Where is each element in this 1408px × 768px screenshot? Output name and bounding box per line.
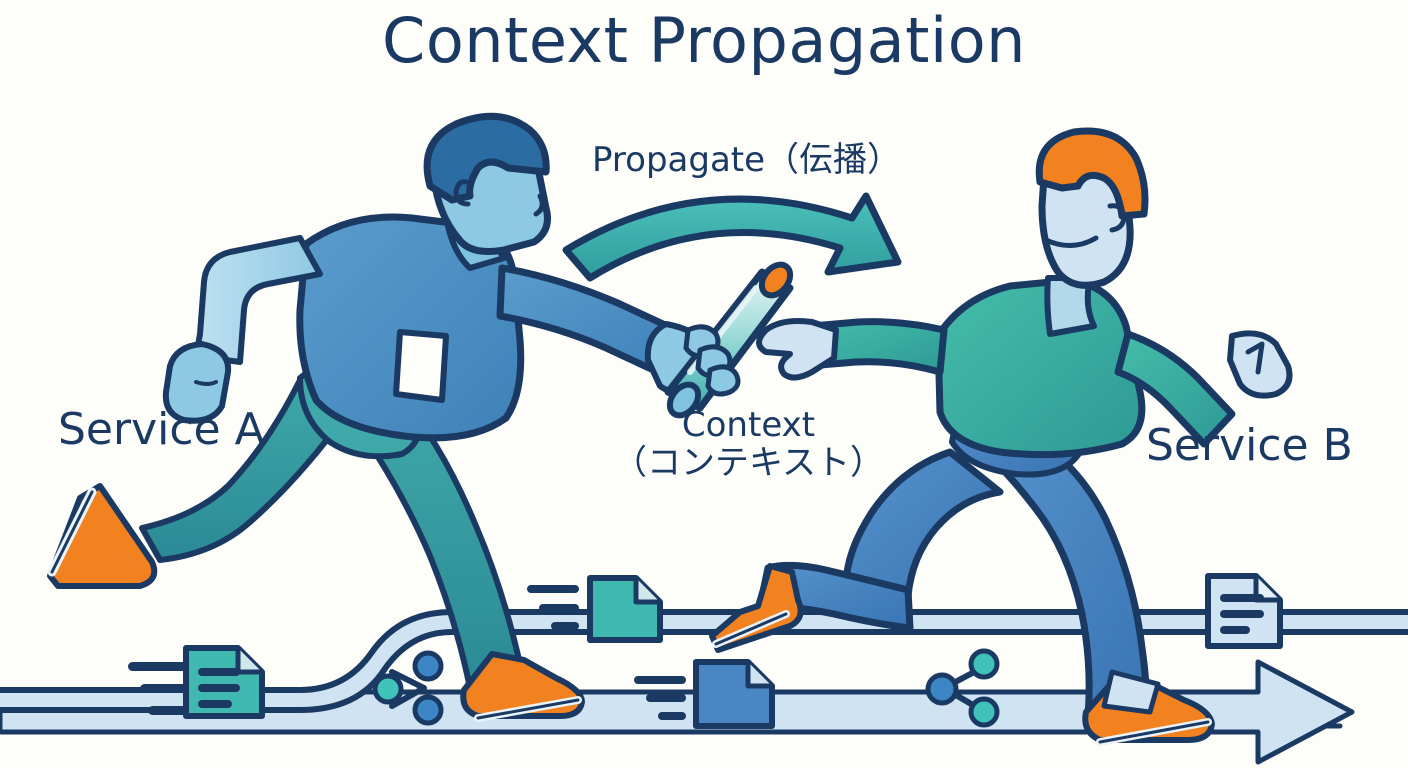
context-label-en: Context (682, 405, 815, 445)
page-title: Context Propagation (0, 4, 1408, 77)
runner-b-shirt (938, 280, 1142, 455)
illustration-canvas: Context Propagation Propagate（伝播） Servic… (0, 0, 1408, 768)
doc-icon-light-right (1208, 576, 1280, 646)
propagate-arrow (566, 196, 898, 278)
doc-icon-teal-left (186, 648, 262, 716)
runner-a-bib (396, 332, 446, 400)
context-label-ja: （コンテキスト） (613, 444, 884, 482)
context-propagation-illustration (0, 0, 1408, 768)
service-b-label: Service B (1146, 420, 1353, 471)
service-a-label: Service A (58, 404, 265, 455)
propagate-label: Propagate（伝播） (592, 132, 901, 181)
context-label: Context （コンテキスト） (613, 406, 884, 482)
doc-icon-blue-mid (696, 662, 772, 726)
runner-b-receiving-hand (759, 321, 836, 378)
doc-icon-teal-mid (590, 578, 660, 640)
